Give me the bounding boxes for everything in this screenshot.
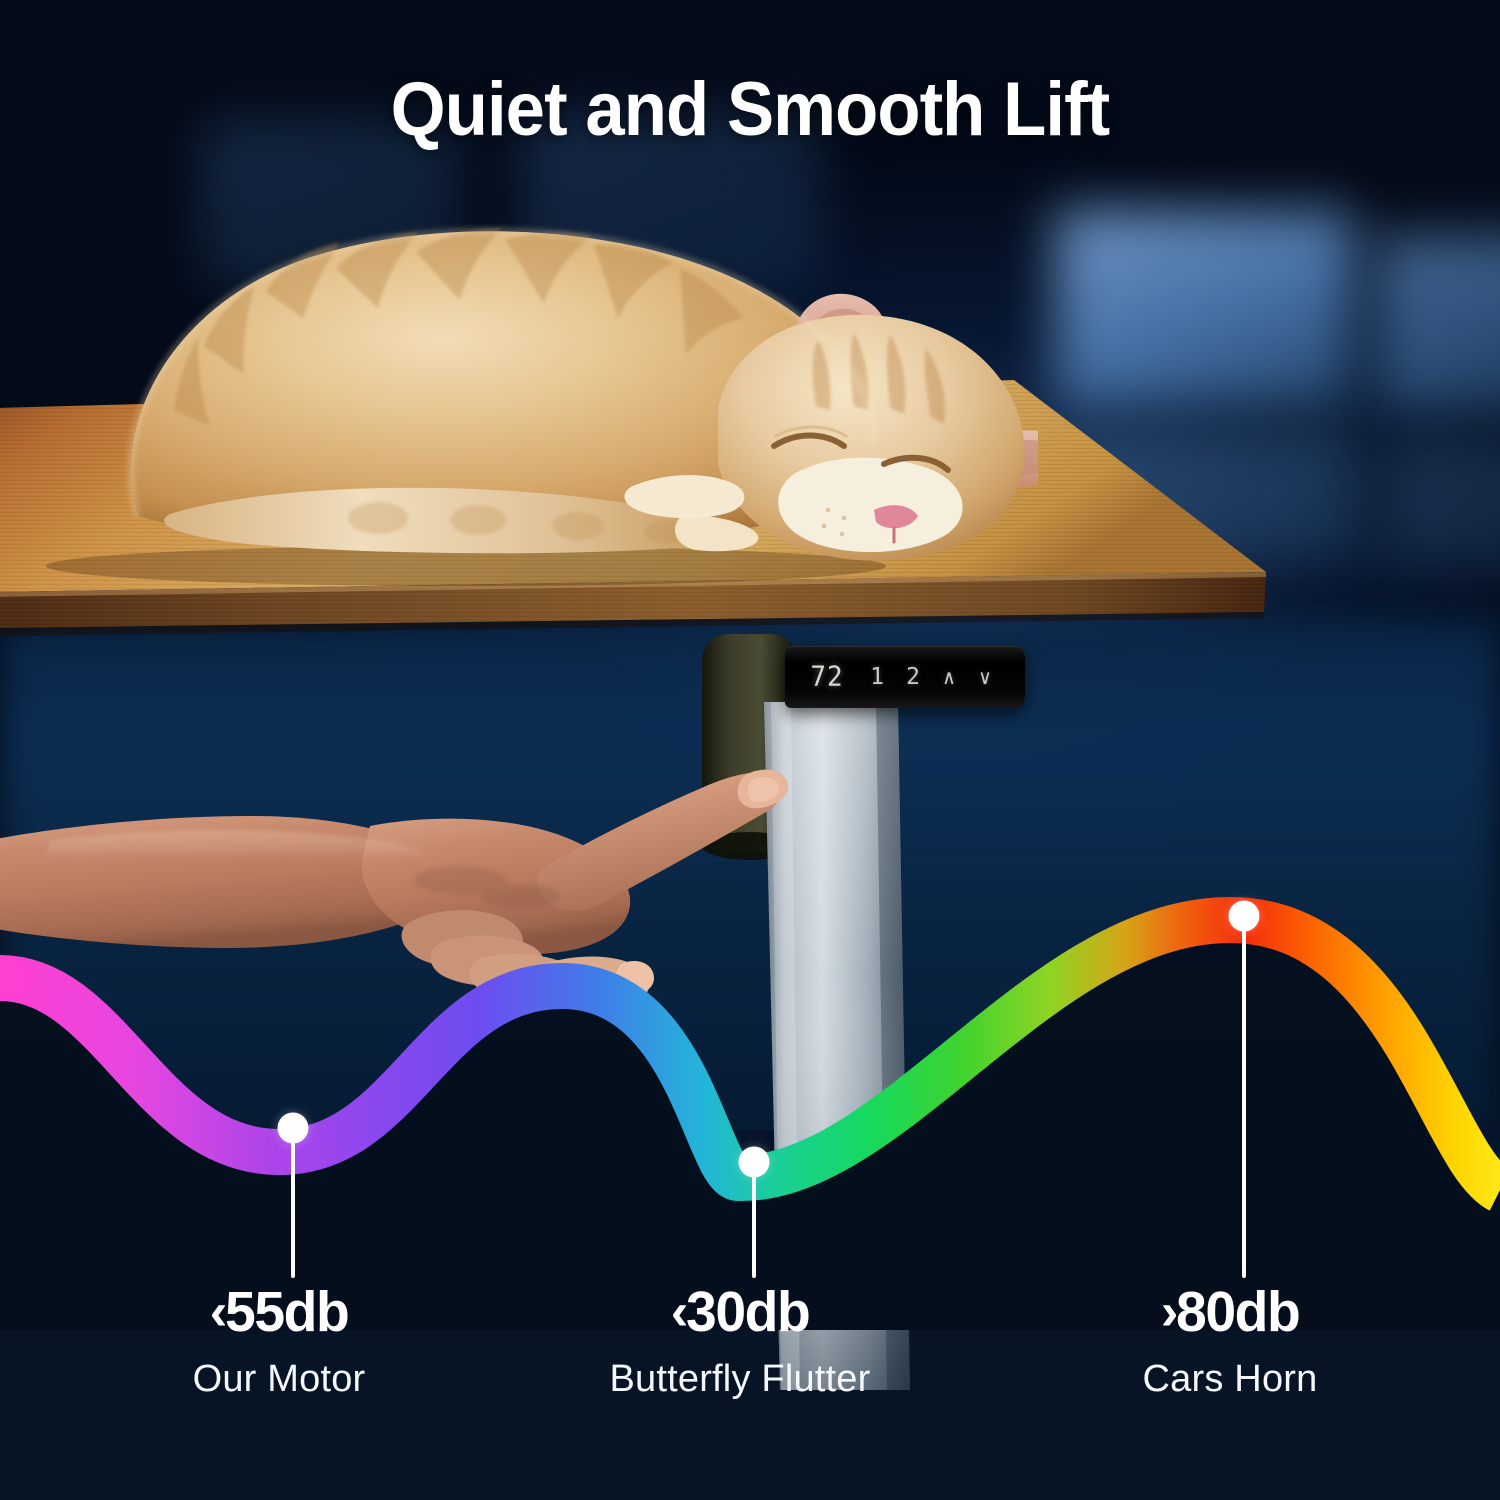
stat-number: 55db [225,1280,348,1344]
controller-down-icon[interactable]: ∨ [967,665,1003,689]
stat-butterfly-flutter: ‹30db Butterfly Flutter [490,1283,990,1401]
stat-number: 80db [1176,1280,1299,1344]
marker-stem [291,1128,295,1278]
background-window-pane [1375,235,1500,415]
marker-cars-horn [1228,916,1259,1278]
stat-value: ‹55db [41,1283,516,1342]
controller-preset-2-button[interactable]: 2 [895,664,931,690]
sleeping-cat [78,196,1038,566]
stat-number: 30db [686,1280,809,1344]
stat-value: ‹30db [498,1283,983,1342]
marker-our-motor [277,1128,308,1278]
stat-caption: Cars Horn [985,1358,1475,1401]
product-infographic: Quiet and Smooth Lift [0,0,1500,1500]
desk-controller-panel[interactable]: 72 1 2 ∧ ∨ [785,646,1025,708]
controller-preset-1-button[interactable]: 1 [859,664,895,690]
marker-stem [752,1162,756,1278]
marker-butterfly-flutter [738,1162,769,1278]
controller-up-icon[interactable]: ∧ [931,665,967,689]
stat-cars-horn: ›80db Cars Horn [985,1283,1475,1401]
stat-caption: Our Motor [34,1358,524,1401]
controller-height-display: 72 [795,661,859,693]
stat-labels: ‹55db Our Motor ‹30db Butterfly Flutter … [0,1283,1500,1453]
stat-value: ›80db [992,1283,1467,1342]
less-than-icon: ‹ [670,1285,686,1339]
stat-our-motor: ‹55db Our Motor [34,1283,524,1401]
stat-caption: Butterfly Flutter [490,1358,990,1401]
background-window-pane [1380,440,1500,570]
page-title: Quiet and Smooth Lift [53,66,1448,153]
less-than-icon: ‹ [209,1285,225,1339]
marker-stem [1242,916,1246,1278]
greater-than-icon: › [1160,1285,1176,1339]
